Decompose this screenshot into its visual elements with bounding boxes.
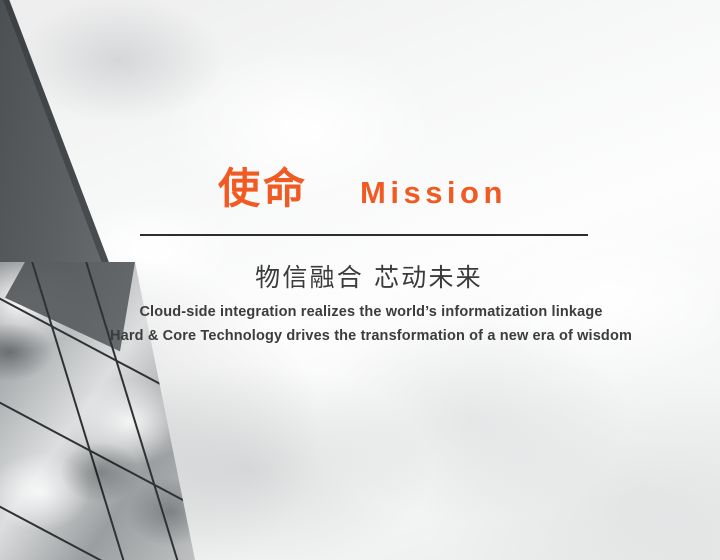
- heading-chinese: 使命: [218, 168, 308, 210]
- tagline-group: Cloud-side integration realizes the worl…: [0, 300, 720, 348]
- heading-row: 使命 Mission: [140, 168, 507, 210]
- tagline-line-2: Hard & Core Technology drives the transf…: [22, 324, 720, 348]
- heading-english: Mission: [360, 177, 507, 208]
- subtitle-chinese: 物信融合 芯动未来: [0, 258, 720, 294]
- tagline-line-1: Cloud-side integration realizes the worl…: [22, 300, 720, 324]
- banner-content: 使命 Mission 物信融合 芯动未来 Cloud-side integrat…: [0, 0, 720, 560]
- heading-divider: [140, 234, 588, 236]
- mission-banner: 使命 Mission 物信融合 芯动未来 Cloud-side integrat…: [0, 0, 720, 560]
